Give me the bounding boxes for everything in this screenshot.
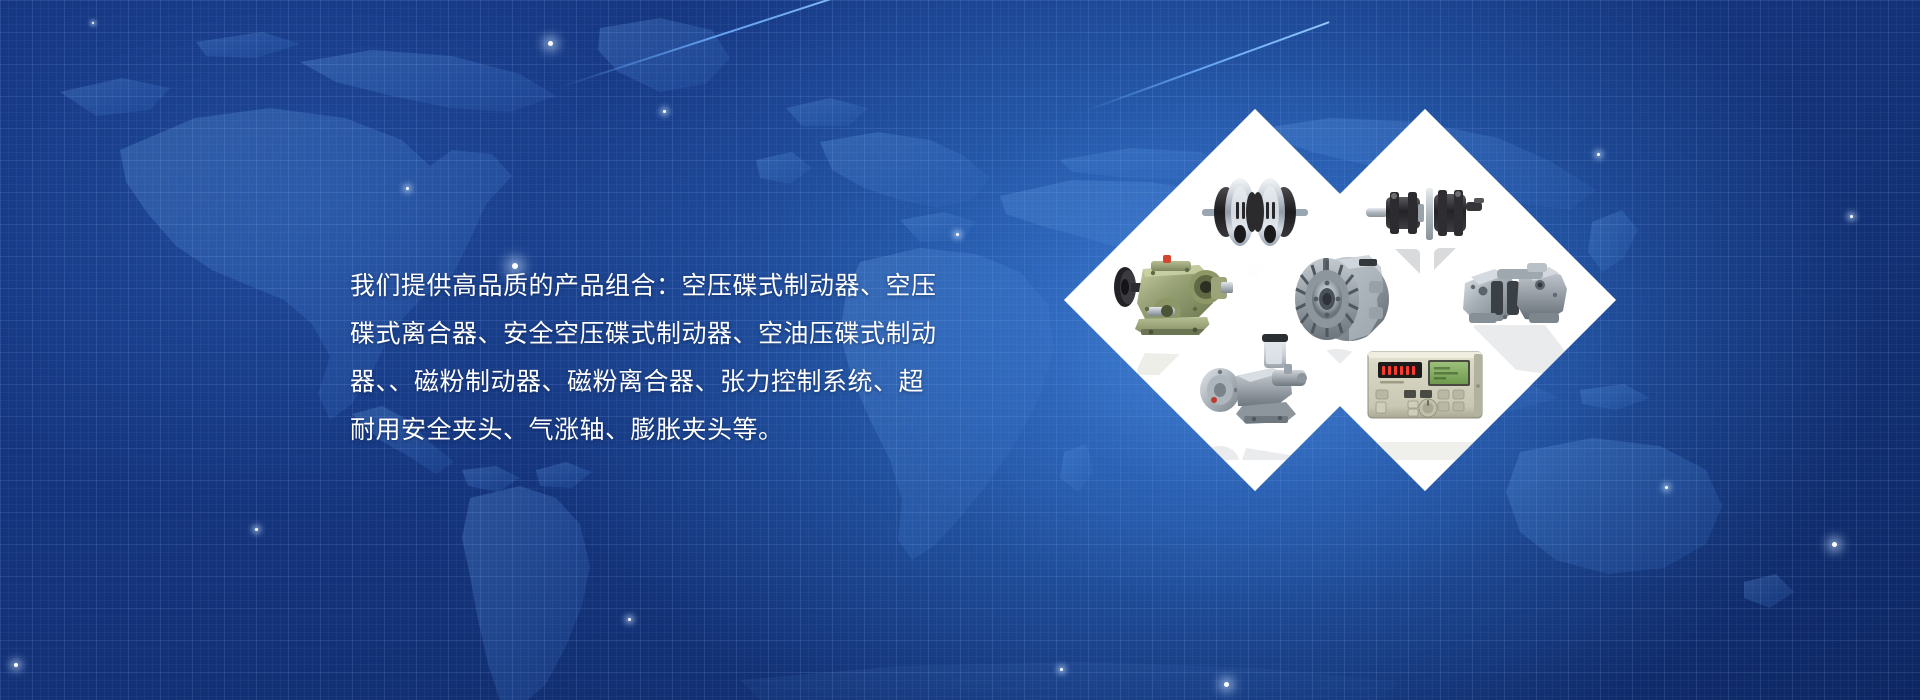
star-dot [628, 618, 631, 621]
star-dot [14, 663, 18, 667]
tension-controller-icon [1350, 310, 1500, 460]
light-streak [1085, 21, 1330, 112]
world-map-background [0, 0, 1920, 700]
light-streak [560, 0, 903, 88]
star-dot [663, 110, 666, 113]
star-field [0, 0, 1920, 700]
star-dot [548, 41, 553, 46]
grid-overlay [0, 0, 1920, 700]
copy-line: 器、、磁粉制动器、磁粉离合器、张力控制系统、超 [350, 358, 950, 406]
hydraulic-booster-icon [1180, 310, 1330, 460]
banner-copy: 我们提供高品质的产品组合：空压碟式制动器、空压 碟式离合器、安全空压碟式制动器、… [350, 262, 950, 454]
product-image [1180, 310, 1330, 460]
product-image [1350, 310, 1500, 460]
star-dot [1832, 542, 1837, 547]
diagonal-streaks [0, 0, 1920, 700]
star-dot [1060, 668, 1063, 671]
copy-line: 耐用安全夹头、气涨轴、膨胀夹头等。 [350, 406, 950, 454]
fine-grid-overlay [0, 0, 1920, 700]
star-dot [956, 233, 959, 236]
star-dot [1850, 215, 1853, 218]
product-diamond-mosaic [1010, 130, 1480, 580]
copy-line: 碟式离合器、安全空压碟式制动器、空油压碟式制动 [350, 310, 950, 358]
star-dot [1224, 682, 1229, 687]
copy-line: 我们提供高品质的产品组合：空压碟式制动器、空压 [350, 262, 950, 310]
hero-banner: 我们提供高品质的产品组合：空压碟式制动器、空压 碟式离合器、安全空压碟式制动器、… [0, 0, 1920, 700]
star-dot [255, 528, 258, 531]
star-dot [1597, 153, 1600, 156]
star-dot [92, 22, 94, 24]
star-dot [1665, 486, 1668, 489]
star-dot [406, 187, 409, 190]
